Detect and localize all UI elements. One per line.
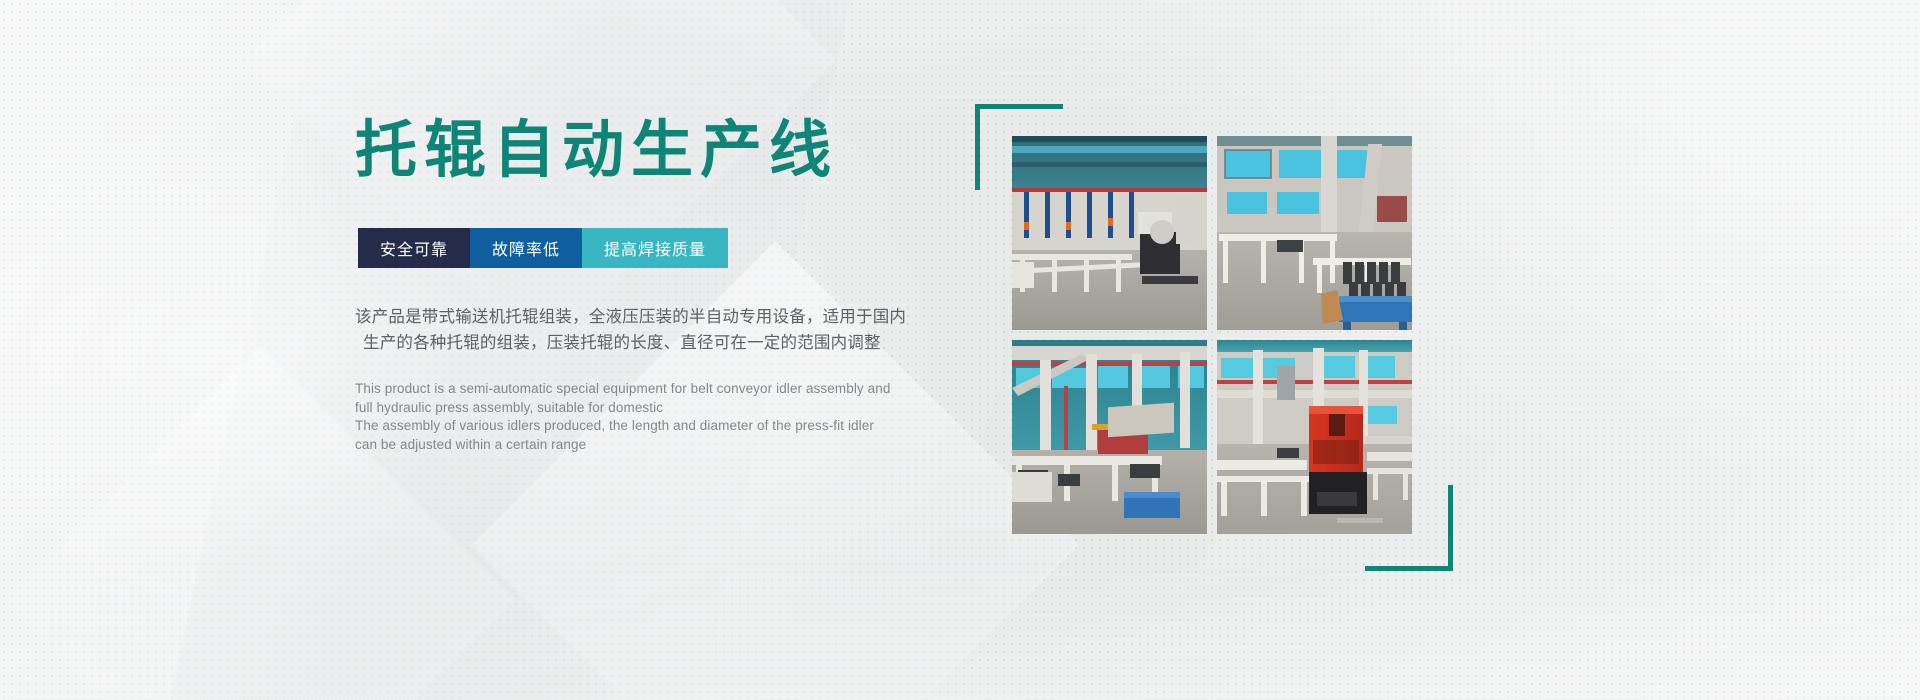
feature-tag-low-failure-rate[interactable]: 故障率低 [470,228,582,268]
gallery-photo-3[interactable] [1012,340,1207,534]
assembly-line-blue-crate-image [1012,340,1207,534]
description-chinese: 该产品是带式输送机托辊组装，全液压压装的半自动专用设备，适用于国内 生产的各种托… [355,304,915,356]
feature-tag-improved-weld-quality[interactable]: 提高焊接质量 [582,228,728,268]
page-title: 托辊自动生产线 [355,120,915,182]
feature-tag-safe-reliable[interactable]: 安全可靠 [358,228,470,268]
background-vignette [0,0,1920,700]
description-english-line-4: can be adjusted within a certain range [355,436,915,455]
feature-tag-row: 安全可靠 故障率低 提高焊接质量 [358,228,915,268]
bracket-vertical-line [1448,485,1453,571]
description-english-line-3: The assembly of various idlers produced,… [355,417,915,436]
bracket-horizontal-line [975,104,1063,109]
description-chinese-line-1: 该产品是带式输送机托辊组装，全液压压装的半自动专用设备，适用于国内 [355,304,915,330]
description-english-line-1: This product is a semi-automatic special… [355,380,915,399]
description-english-line-2: full hydraulic press assembly, suitable … [355,399,915,418]
photo-grid [1012,136,1412,534]
product-photo-gallery [1012,136,1412,534]
description-english: This product is a semi-automatic special… [355,380,915,454]
bracket-vertical-line [975,104,980,190]
gallery-photo-2[interactable] [1217,136,1412,330]
workbench-with-idler-stock-image [1217,136,1412,330]
description-chinese-line-2: 生产的各种托辊的组装，压装托辊的长度、直径可在一定的范围内调整 [355,330,915,356]
product-banner: 托辊自动生产线 安全可靠 故障率低 提高焊接质量 该产品是带式输送机托辊组装，全… [0,0,1920,700]
factory-roller-conveyor-line-image [1012,136,1207,330]
gallery-photo-4[interactable] [1217,340,1412,534]
red-hydraulic-press-machine-image [1217,340,1412,534]
bracket-horizontal-line [1365,566,1453,571]
gallery-photo-1[interactable] [1012,136,1207,330]
banner-text-column: 托辊自动生产线 安全可靠 故障率低 提高焊接质量 该产品是带式输送机托辊组装，全… [355,120,915,454]
